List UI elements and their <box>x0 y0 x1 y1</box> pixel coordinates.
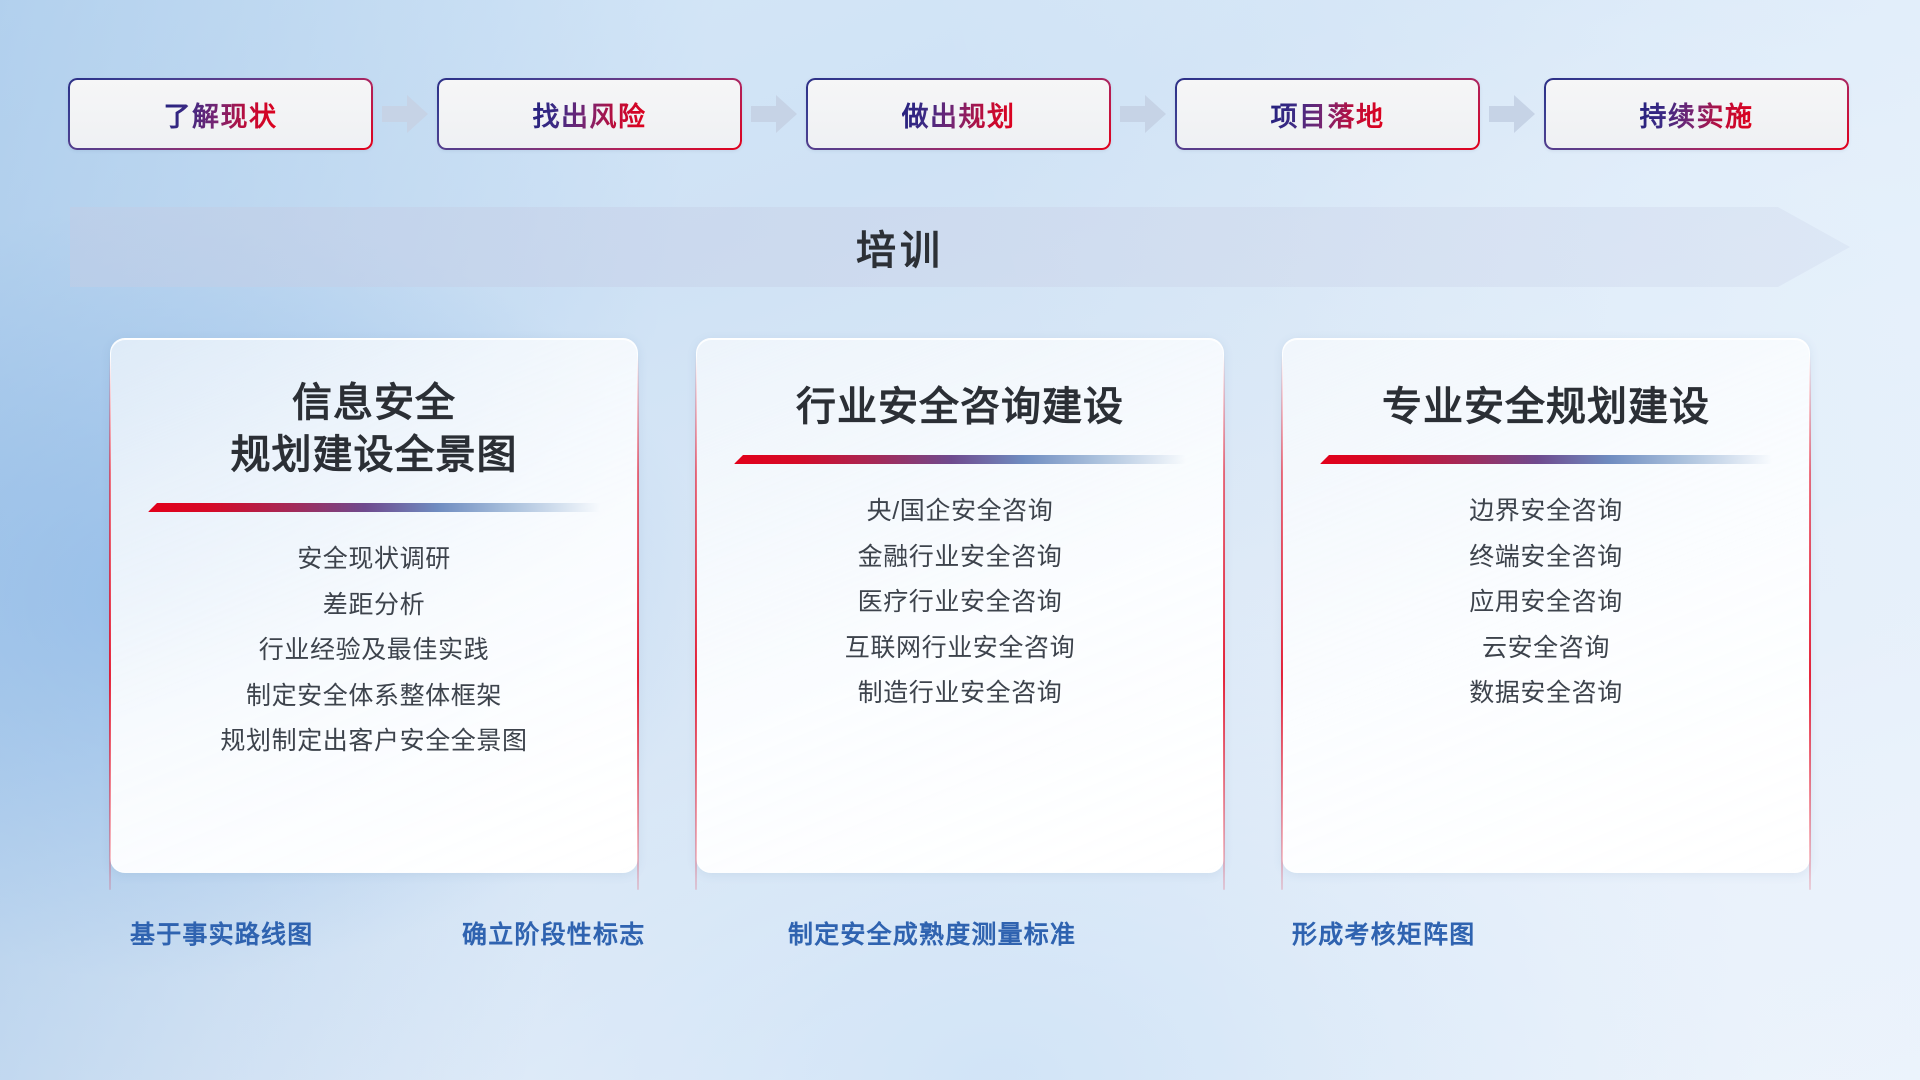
list-item: 制造行业安全咨询 <box>858 672 1063 715</box>
step-arrow-icon-3 <box>1480 91 1544 137</box>
card-divider-0 <box>148 503 600 512</box>
step-label-1: 找出风险 <box>533 95 647 134</box>
step-label-4: 持续实施 <box>1640 95 1754 134</box>
banner-label: 培训 <box>70 207 1850 287</box>
step-label-0: 了解现状 <box>164 95 278 134</box>
card-title-1: 行业安全咨询建设 <box>768 381 1152 433</box>
card-divider-1 <box>734 455 1186 464</box>
list-item: 终端安全咨询 <box>1469 536 1623 579</box>
step-box-0[interactable]: 了解现状 <box>68 78 373 150</box>
step-box-4[interactable]: 持续实施 <box>1544 78 1849 150</box>
step-box-2[interactable]: 做出规划 <box>806 78 1111 150</box>
step-arrow-icon-0 <box>373 91 437 137</box>
step-box-3[interactable]: 项目落地 <box>1175 78 1480 150</box>
card-title-0: 信息安全 规划建设全景图 <box>203 377 546 481</box>
outcome-caption-row: 基于事实路线图 确立阶段性标志 制定安全成熟度测量标准 形成考核矩阵图 <box>0 915 1920 963</box>
list-item: 制定安全体系整体框架 <box>246 675 502 718</box>
process-step-row: 了解现状 找出风险 做出规划 项目落地 <box>68 78 1852 150</box>
list-item: 边界安全咨询 <box>1469 490 1623 533</box>
outcome-caption-2: 制定安全成熟度测量标准 <box>788 915 1076 951</box>
step-arrow-icon-1 <box>742 91 806 137</box>
card-list-1: 央/国企安全咨询 金融行业安全咨询 医疗行业安全咨询 互联网行业安全咨询 制造行… <box>697 490 1223 715</box>
step-label-2: 做出规划 <box>902 95 1016 134</box>
list-item: 金融行业安全咨询 <box>858 536 1063 579</box>
card-divider-wrap-0 <box>111 503 637 512</box>
capability-card-row: 信息安全 规划建设全景图 安全现状调研 差距分析 行业经验及最佳实践 制定安全体… <box>110 338 1810 873</box>
list-item: 行业经验及最佳实践 <box>259 629 489 672</box>
outcome-caption-1: 确立阶段性标志 <box>462 915 645 951</box>
list-item: 差距分析 <box>323 584 425 627</box>
card-list-2: 边界安全咨询 终端安全咨询 应用安全咨询 云安全咨询 数据安全咨询 <box>1283 490 1809 715</box>
list-item: 互联网行业安全咨询 <box>845 627 1075 670</box>
card-list-0: 安全现状调研 差距分析 行业经验及最佳实践 制定安全体系整体框架 规划制定出客户… <box>111 538 637 763</box>
list-item: 应用安全咨询 <box>1469 581 1623 624</box>
list-item: 数据安全咨询 <box>1469 672 1623 715</box>
card-divider-2 <box>1320 455 1772 464</box>
capability-card-2[interactable]: 专业安全规划建设 边界安全咨询 终端安全咨询 应用安全咨询 云安全咨询 数据安全… <box>1282 338 1810 873</box>
list-item: 云安全咨询 <box>1482 627 1610 670</box>
card-title-2: 专业安全规划建设 <box>1354 381 1738 433</box>
list-item: 安全现状调研 <box>297 538 451 581</box>
step-arrow-icon-2 <box>1111 91 1175 137</box>
list-item: 规划制定出客户安全全景图 <box>220 720 527 763</box>
outcome-caption-0: 基于事实路线图 <box>130 915 313 951</box>
capability-card-1[interactable]: 行业安全咨询建设 央/国企安全咨询 金融行业安全咨询 医疗行业安全咨询 互联网行… <box>696 338 1224 873</box>
step-label-3: 项目落地 <box>1271 95 1385 134</box>
step-box-1[interactable]: 找出风险 <box>437 78 742 150</box>
capability-card-0[interactable]: 信息安全 规划建设全景图 安全现状调研 差距分析 行业经验及最佳实践 制定安全体… <box>110 338 638 873</box>
list-item: 央/国企安全咨询 <box>867 490 1054 533</box>
list-item: 医疗行业安全咨询 <box>858 581 1063 624</box>
card-divider-wrap-1 <box>697 455 1223 464</box>
outcome-caption-3: 形成考核矩阵图 <box>1292 915 1475 951</box>
card-divider-wrap-2 <box>1283 455 1809 464</box>
training-banner: 培训 <box>70 207 1850 287</box>
slide-canvas: 了解现状 找出风险 做出规划 项目落地 <box>0 0 1920 1080</box>
